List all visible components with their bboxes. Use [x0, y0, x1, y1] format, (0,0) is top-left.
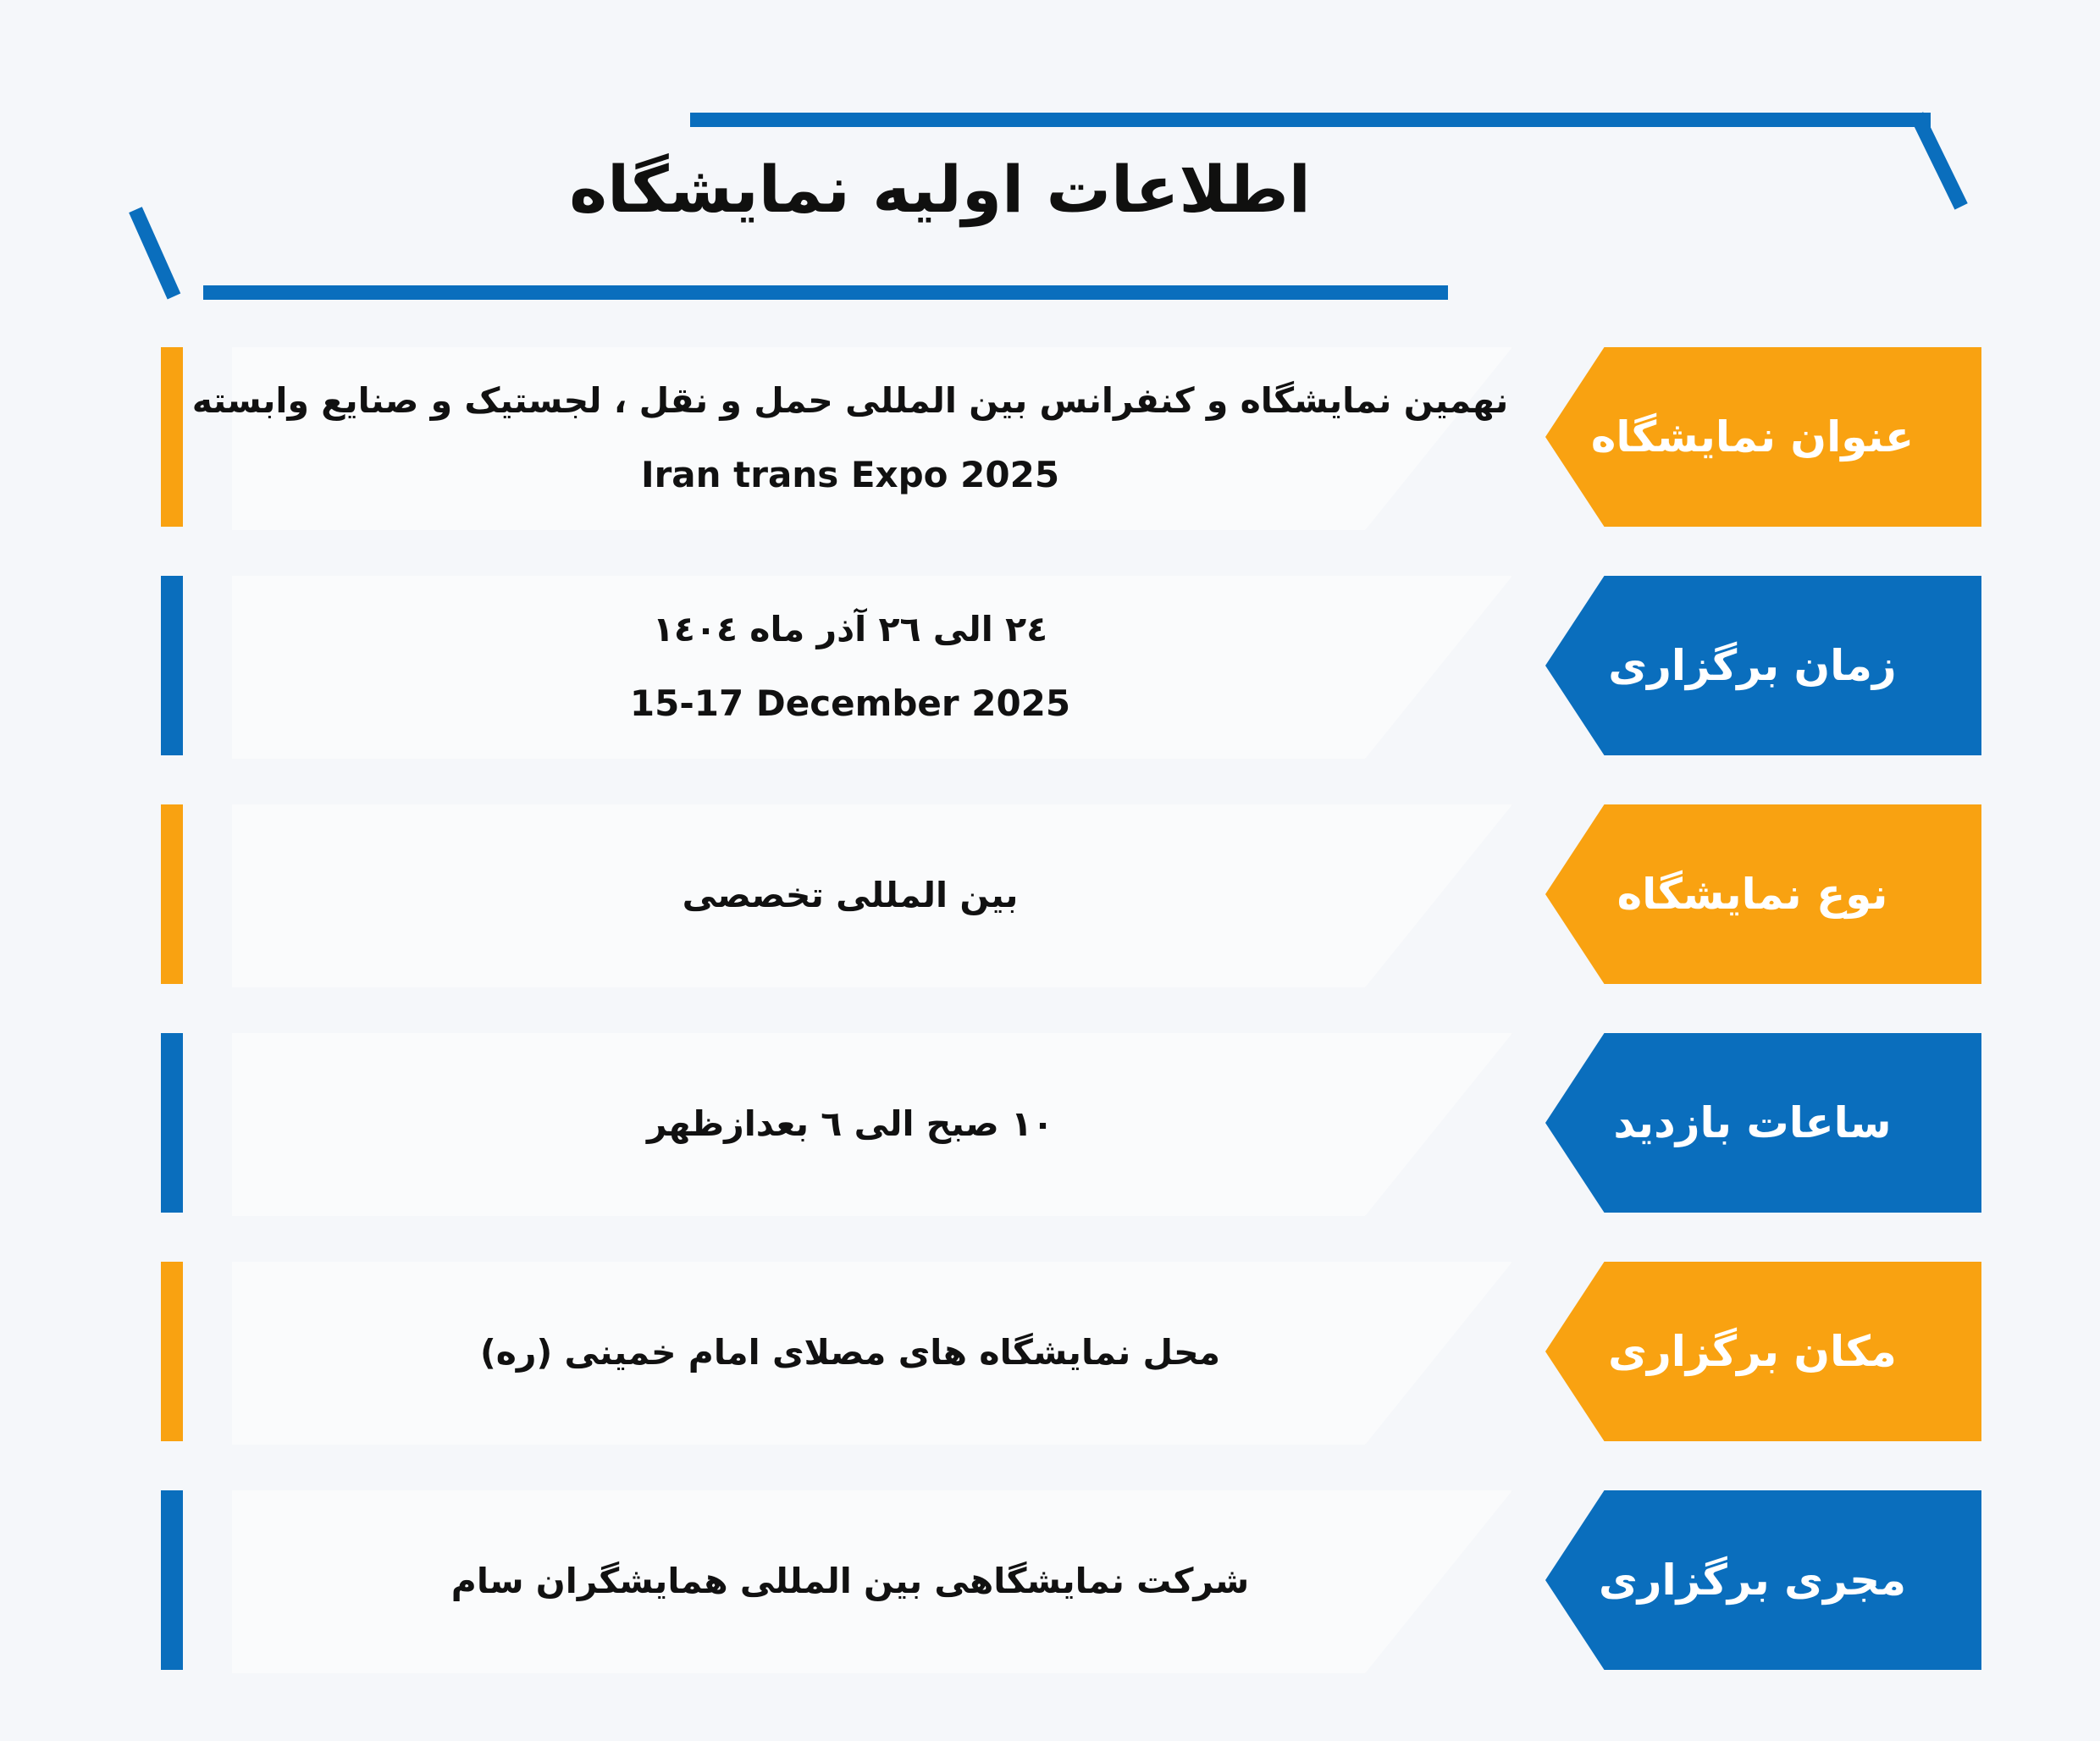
- row-value-line: شرکت نمایشگاهی بین المللی همایشگران سام: [451, 1562, 1249, 1600]
- row-value-line: ١٠ صبح الی ٦ بعدازظهر: [647, 1105, 1053, 1143]
- row-accent-bar: [161, 1262, 183, 1441]
- row-value-line: بین المللی تخصصی: [682, 876, 1019, 915]
- row-accent-bar: [161, 1490, 183, 1670]
- info-rows: نهمین نمایشگاه و کنفرانس بین المللی حمل …: [0, 322, 2100, 1694]
- row-label-text: زمان برگزاری: [1608, 644, 1918, 687]
- row-value-text: شرکت نمایشگاهی بین المللی همایشگران سام: [232, 1490, 1468, 1673]
- row-value-line: نهمین نمایشگاه و کنفرانس بین المللی حمل …: [192, 382, 1509, 420]
- row-value-text: ١٠ صبح الی ٦ بعدازظهر: [232, 1033, 1468, 1216]
- header-decoration-top-rail: [690, 113, 1931, 127]
- row-accent-bar: [161, 804, 183, 984]
- row-accent-bar: [161, 1033, 183, 1213]
- row-label-badge[interactable]: مجری برگزاری: [1545, 1490, 1981, 1670]
- row-accent-bar: [161, 576, 183, 755]
- row-value-text: محل نمایشگاه های مصلای امام خمینی (ره): [232, 1262, 1468, 1445]
- page-title: اطلاعات اولیه نمایشگاه: [0, 158, 2100, 222]
- row-label-badge[interactable]: زمان برگزاری: [1545, 576, 1981, 755]
- row-accent-bar: [161, 347, 183, 527]
- row-label-badge[interactable]: نوع نمایشگاه: [1545, 804, 1981, 984]
- info-row: نهمین نمایشگاه و کنفرانس بین المللی حمل …: [0, 322, 2100, 550]
- row-label-text: عنوان نمایشگاه: [1591, 416, 1936, 458]
- info-row: بین المللی تخصصینوع نمایشگاه: [0, 779, 2100, 1008]
- row-value-line: ٢٤ الی ٢٦ آذر ماه ١٤٠٤: [653, 611, 1047, 649]
- info-row: محل نمایشگاه های مصلای امام خمینی (ره)مک…: [0, 1236, 2100, 1465]
- row-value-line: محل نمایشگاه های مصلای امام خمینی (ره): [480, 1334, 1220, 1372]
- row-label-badge[interactable]: عنوان نمایشگاه: [1545, 347, 1981, 527]
- info-row: ٢٤ الی ٢٦ آذر ماه ١٤٠٤15-17 December 202…: [0, 550, 2100, 779]
- row-label-badge[interactable]: ساعات بازدید: [1545, 1033, 1981, 1213]
- row-label-badge[interactable]: مکان برگزاری: [1545, 1262, 1981, 1441]
- page-header: اطلاعات اولیه نمایشگاه: [0, 0, 2100, 322]
- row-label-text: مجری برگزاری: [1599, 1559, 1928, 1601]
- info-row: ١٠ صبح الی ٦ بعدازظهرساعات بازدید: [0, 1008, 2100, 1236]
- row-value-line: Iran trans Expo 2025: [641, 456, 1059, 495]
- row-label-text: ساعات بازدید: [1613, 1102, 1913, 1144]
- row-value-line: 15-17 December 2025: [630, 684, 1070, 723]
- info-row: شرکت نمایشگاهی بین المللی همایشگران سامم…: [0, 1465, 2100, 1694]
- row-label-text: نوع نمایشگاه: [1617, 873, 1910, 915]
- header-decoration-bottom-rail: [203, 285, 1448, 300]
- row-value-text: نهمین نمایشگاه و کنفرانس بین المللی حمل …: [232, 347, 1468, 530]
- row-value-text: بین المللی تخصصی: [232, 804, 1468, 987]
- row-value-text: ٢٤ الی ٢٦ آذر ماه ١٤٠٤15-17 December 202…: [232, 576, 1468, 759]
- row-label-text: مکان برگزاری: [1608, 1330, 1919, 1373]
